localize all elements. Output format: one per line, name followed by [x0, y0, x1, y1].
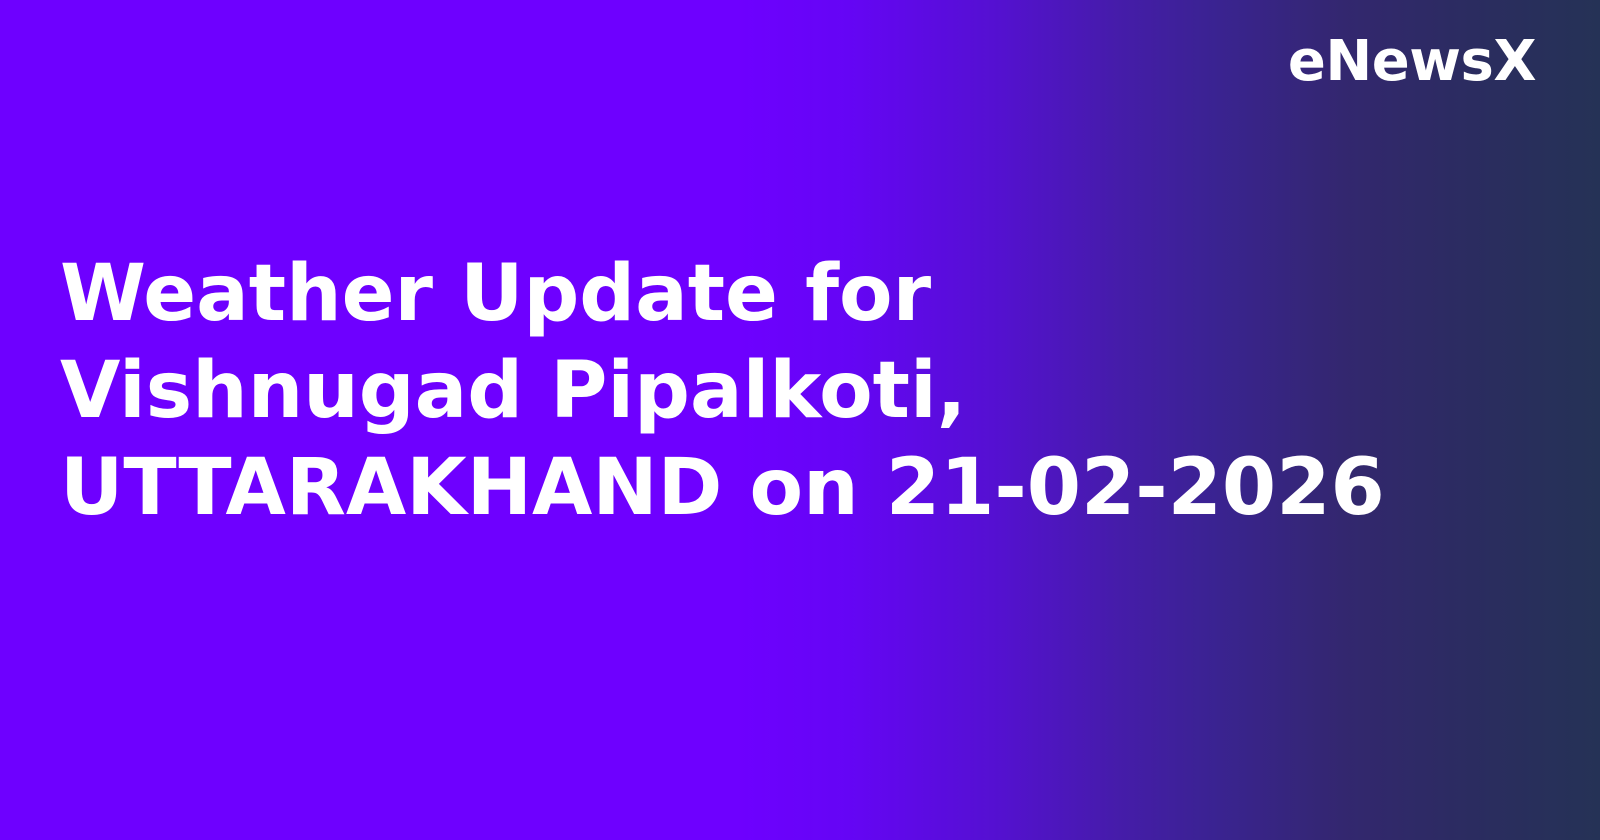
news-banner-card: eNewsX Weather Update for Vishnugad Pipa…	[0, 0, 1600, 840]
banner-header: eNewsX	[0, 0, 1600, 124]
headline-line-3: UTTARAKHAND on 21-02-2026	[60, 440, 1540, 537]
enewsx-logo[interactable]: eNewsX	[1288, 34, 1536, 90]
headline-block: Weather Update for Vishnugad Pipalkoti, …	[60, 246, 1540, 537]
headline-line-2: Vishnugad Pipalkoti,	[60, 343, 1540, 440]
page-title: Weather Update for Vishnugad Pipalkoti, …	[60, 246, 1540, 537]
headline-line-1: Weather Update for	[60, 246, 1540, 343]
